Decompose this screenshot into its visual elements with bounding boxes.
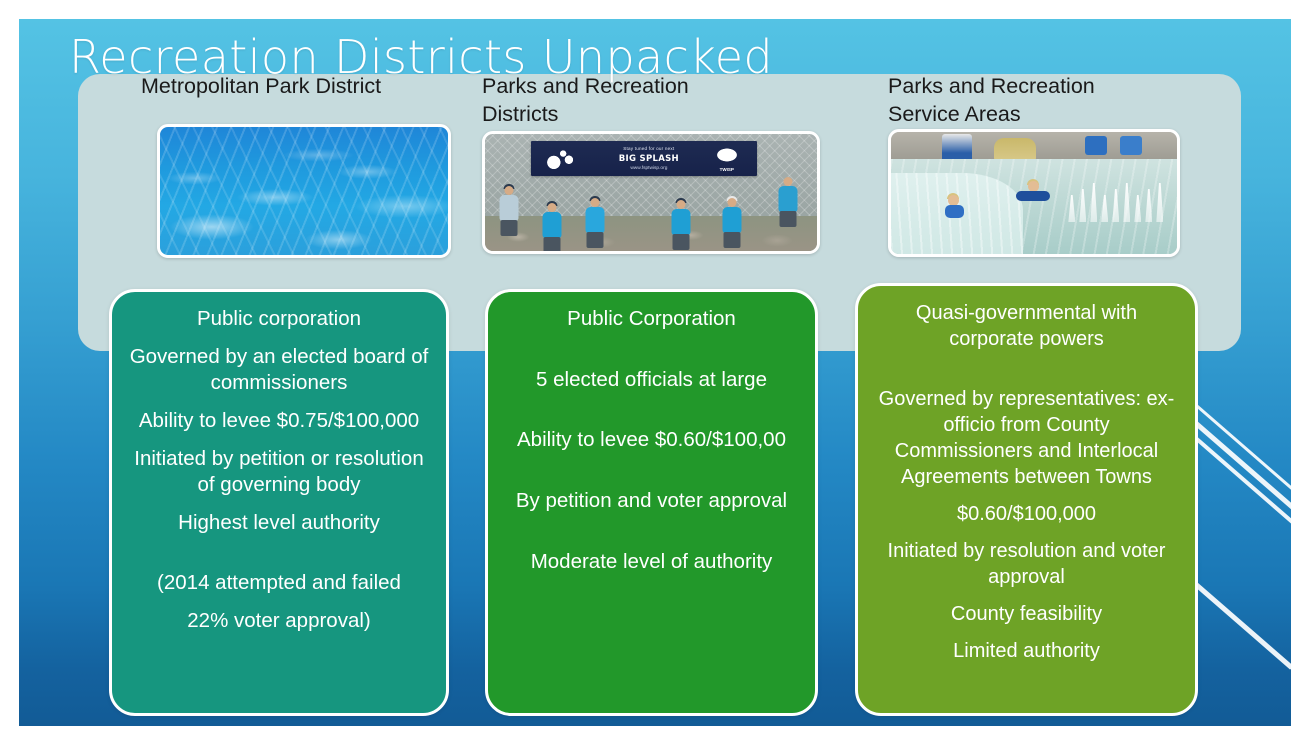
pool-water-texture	[160, 127, 448, 255]
card-line: Ability to levee $0.75/$100,000	[128, 408, 430, 435]
fountain-jet	[1068, 195, 1075, 222]
group-photo-scene: Stay tuned for our next BIG SPLASH www.f…	[485, 134, 817, 251]
fountain-jet	[1101, 195, 1108, 222]
fountain-jet	[1112, 189, 1119, 222]
kids-swimming-photo	[888, 129, 1180, 257]
card-parks-and-recreation-districts: Public Corporation 5 elected officials a…	[485, 289, 818, 716]
column-heading-3: Parks and Recreation Service Areas	[888, 73, 1148, 128]
rocky-ground	[485, 216, 817, 251]
column-heading-2: Parks and Recreation Districts	[482, 73, 732, 128]
fountain-jet	[1123, 183, 1130, 223]
fountain-jet	[1090, 183, 1097, 223]
fountain-jets	[1068, 178, 1171, 222]
card-line: By petition and voter approval	[504, 488, 799, 515]
card-line: Governed by representatives: ex-officio …	[874, 386, 1179, 490]
card-line: Quasi-governmental with corporate powers	[874, 300, 1179, 352]
card-line: Public corporation	[128, 306, 430, 333]
column-heading-1: Metropolitan Park District	[141, 73, 451, 101]
big-splash-banner: Stay tuned for our next BIG SPLASH www.f…	[531, 141, 757, 176]
fountain-jet	[1145, 189, 1152, 222]
person-figure	[585, 198, 605, 242]
pool-water-photo	[157, 124, 451, 258]
fountain-jet	[1134, 195, 1141, 222]
card-line: 5 elected officials at large	[504, 367, 799, 394]
splash-graphic-icon	[543, 147, 579, 169]
card-line: $0.60/$100,000	[874, 501, 1179, 527]
person-figure	[541, 203, 563, 249]
pool-bag	[1085, 136, 1107, 156]
pool-bag	[1120, 136, 1142, 156]
fountain-jet	[1156, 183, 1163, 223]
card-line: Initiated by resolution and voter approv…	[874, 538, 1179, 590]
card-line: Limited authority	[874, 638, 1179, 664]
card-line: Ability to levee $0.60/$100,00	[504, 427, 799, 454]
slide-background: Recreation Districts Unpacked Metropolit…	[19, 19, 1291, 726]
eagle-logo-icon	[710, 147, 744, 167]
banner-line-3: www.fsptwisp.org	[590, 166, 707, 171]
card-metropolitan-park-district: Public corporation Governed by an electe…	[109, 289, 449, 716]
card-line: Highest level authority	[128, 510, 430, 537]
person-figure	[777, 177, 799, 239]
banner-line-1: Stay tuned for our next	[590, 146, 707, 151]
card-line: (2014 attempted and failed	[128, 570, 430, 597]
card-line: 22% voter approval)	[128, 608, 430, 635]
card-line: Initiated by petition or resolution of g…	[128, 446, 430, 499]
person-figure	[671, 200, 691, 244]
person-figure	[498, 186, 520, 244]
card-parks-and-recreation-service-areas: Quasi-governmental with corporate powers…	[855, 283, 1198, 716]
card-line: Governed by an elected board of commissi…	[128, 344, 430, 397]
kids-pool-scene	[891, 132, 1177, 254]
card-line: County feasibility	[874, 601, 1179, 627]
card-line: Public Corporation	[504, 306, 799, 333]
fountain-jet	[1079, 189, 1086, 222]
banner-line-2: BIG SPLASH	[590, 154, 707, 164]
card-line: Moderate level of authority	[504, 549, 799, 576]
person-figure	[721, 198, 743, 246]
slide-frame: Recreation Districts Unpacked Metropolit…	[0, 0, 1310, 745]
banner-logo-text: TWISP	[710, 167, 744, 172]
group-banner-photo: Stay tuned for our next BIG SPLASH www.f…	[482, 131, 820, 254]
